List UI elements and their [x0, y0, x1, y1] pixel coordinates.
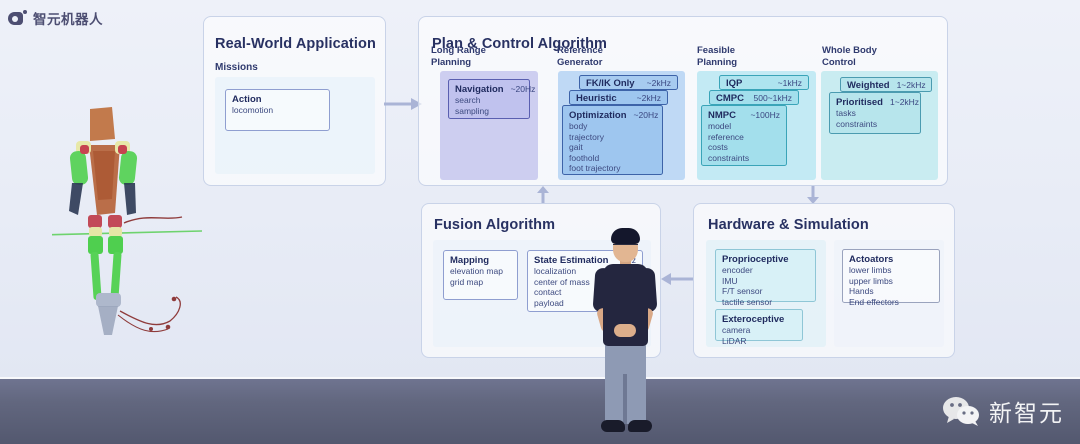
board-reference-generator: FK/IK Only ~2kHz Heuristic ~2kHz Optimiz… — [558, 71, 685, 180]
card-frequency: ~20Hz — [634, 110, 659, 120]
card-item: grid map — [450, 277, 511, 288]
card-item: lower limbs — [849, 265, 933, 276]
column-label-reference-generator: Reference Generator — [557, 45, 603, 68]
card-proprioceptive: Proprioceptive encoder IMU F/T sensor ta… — [715, 249, 816, 302]
card-name: Optimization — [569, 110, 627, 121]
card-mapping: Mapping elevation map grid map — [443, 250, 518, 300]
card-cmpc: CMPC 500~1kHz — [709, 90, 799, 105]
panel-hardware-simulation: Hardware & Simulation Proprioceptive enc… — [693, 203, 955, 358]
missions-board: Action locomotion — [215, 77, 375, 174]
card-name: Prioritised — [836, 97, 883, 108]
card-item: body — [569, 121, 656, 132]
card-name: Navigation — [455, 84, 504, 95]
card-item: trajectory — [569, 132, 656, 143]
card-nmpc: NMPC ~100Hz model reference costs constr… — [701, 105, 787, 166]
card-name: Proprioceptive — [722, 254, 789, 265]
card-item: encoder — [722, 265, 809, 276]
board-whole-body-control: Weighted 1~2kHz Prioritised 1~2kHz tasks… — [821, 71, 938, 180]
card-item: tasks — [836, 108, 914, 119]
card-item: search — [455, 95, 523, 106]
card-item: elevation map — [450, 266, 511, 277]
agibot-mark-icon — [8, 10, 27, 26]
brand-logo-text: 智元机器人 — [33, 8, 103, 28]
card-name: FK/IK Only — [586, 78, 635, 89]
panel-title: Hardware & Simulation — [708, 217, 869, 233]
watermark: 新智元 — [941, 394, 1064, 428]
card-item: End effectors — [849, 297, 933, 308]
card-item: tactile sensor — [722, 297, 809, 308]
card-frequency: ~20Hz — [511, 84, 536, 94]
card-navigation: Navigation ~20Hz search sampling — [448, 79, 530, 119]
card-item: IMU — [722, 276, 809, 287]
card-optimization: Optimization ~20Hz body trajectory gait … — [562, 105, 663, 175]
card-item: sampling — [455, 106, 523, 117]
card-frequency: 1~2kHz — [897, 80, 926, 90]
card-action: Action locomotion — [225, 89, 330, 131]
card-item: F/T sensor — [722, 286, 809, 297]
card-name: Weighted — [847, 80, 890, 91]
arrow-fusion-to-plan-icon — [535, 186, 551, 204]
card-heuristic: Heuristic ~2kHz — [569, 90, 668, 105]
card-frequency: 500~1kHz — [753, 93, 792, 103]
card-name: Mapping — [450, 255, 489, 266]
watermark-text: 新智元 — [989, 394, 1064, 428]
card-items: locomotion — [232, 105, 323, 116]
card-item: constraints — [708, 153, 780, 164]
card-actuators: Actoators lower limbs upper limbs Hands … — [842, 249, 940, 303]
column-label-long-range-planning: Long Range Planning — [431, 45, 486, 68]
card-prioritised: Prioritised 1~2kHz tasks constraints — [829, 92, 921, 134]
board-long-range-planning: Navigation ~20Hz search sampling — [440, 71, 538, 180]
card-name: NMPC — [708, 110, 736, 121]
card-item: reference — [708, 132, 780, 143]
card-item: constraints — [836, 119, 914, 130]
card-weighted: Weighted 1~2kHz — [840, 77, 932, 92]
section-label-missions: Missions — [215, 62, 258, 73]
card-item: foot trajectory — [569, 163, 656, 174]
card-frequency: 1~2kHz — [890, 97, 919, 107]
card-name: CMPC — [716, 93, 744, 104]
panel-real-world-application: Real-World Application Missions Action l… — [203, 16, 386, 186]
robot-svg — [52, 95, 202, 345]
panel-title: Real-World Application — [215, 36, 376, 52]
card-item: upper limbs — [849, 276, 933, 287]
sensors-board: Proprioceptive encoder IMU F/T sensor ta… — [706, 240, 826, 347]
card-item: Hands — [849, 286, 933, 297]
card-fk-ik-only: FK/IK Only ~2kHz — [579, 75, 678, 90]
card-item: foothold — [569, 153, 656, 164]
card-item: costs — [708, 142, 780, 153]
robot-visualization — [52, 95, 202, 345]
card-frequency: ~2kHz — [637, 93, 661, 103]
card-item: camera — [722, 325, 796, 336]
arrow-rwa-to-plan-icon — [383, 96, 423, 112]
board-feasible-planning: IQP ~1kHz CMPC 500~1kHz NMPC ~100Hz mode… — [697, 71, 816, 180]
arrow-hardware-to-fusion-icon — [661, 271, 695, 287]
card-name: Actoators — [849, 254, 893, 265]
card-name: IQP — [726, 78, 742, 89]
card-frequency: ~2kHz — [647, 78, 671, 88]
card-item: gait — [569, 142, 656, 153]
card-frequency: ~100Hz — [750, 110, 780, 120]
card-name: Action — [232, 94, 262, 105]
brand-logo: 智元机器人 — [8, 8, 103, 28]
actuators-board: Actoators lower limbs upper limbs Hands … — [834, 240, 944, 347]
panel-title: Fusion Algorithm — [434, 217, 555, 233]
card-frequency: ~1kHz — [778, 78, 802, 88]
presenter-person — [585, 224, 665, 440]
arrow-plan-to-hardware-icon — [805, 186, 821, 204]
card-exteroceptive: Exteroceptive camera LiDAR — [715, 309, 803, 341]
card-name: Exteroceptive — [722, 314, 784, 325]
wechat-icon — [941, 395, 981, 427]
column-label-feasible-planning: Feasible Planning — [697, 45, 737, 68]
stage-floor — [0, 379, 1080, 444]
card-iqp: IQP ~1kHz — [719, 75, 809, 90]
card-item: model — [708, 121, 780, 132]
column-label-whole-body-control: Whole Body Control — [822, 45, 877, 68]
card-item: LiDAR — [722, 336, 796, 347]
card-name: Heuristic — [576, 93, 617, 104]
